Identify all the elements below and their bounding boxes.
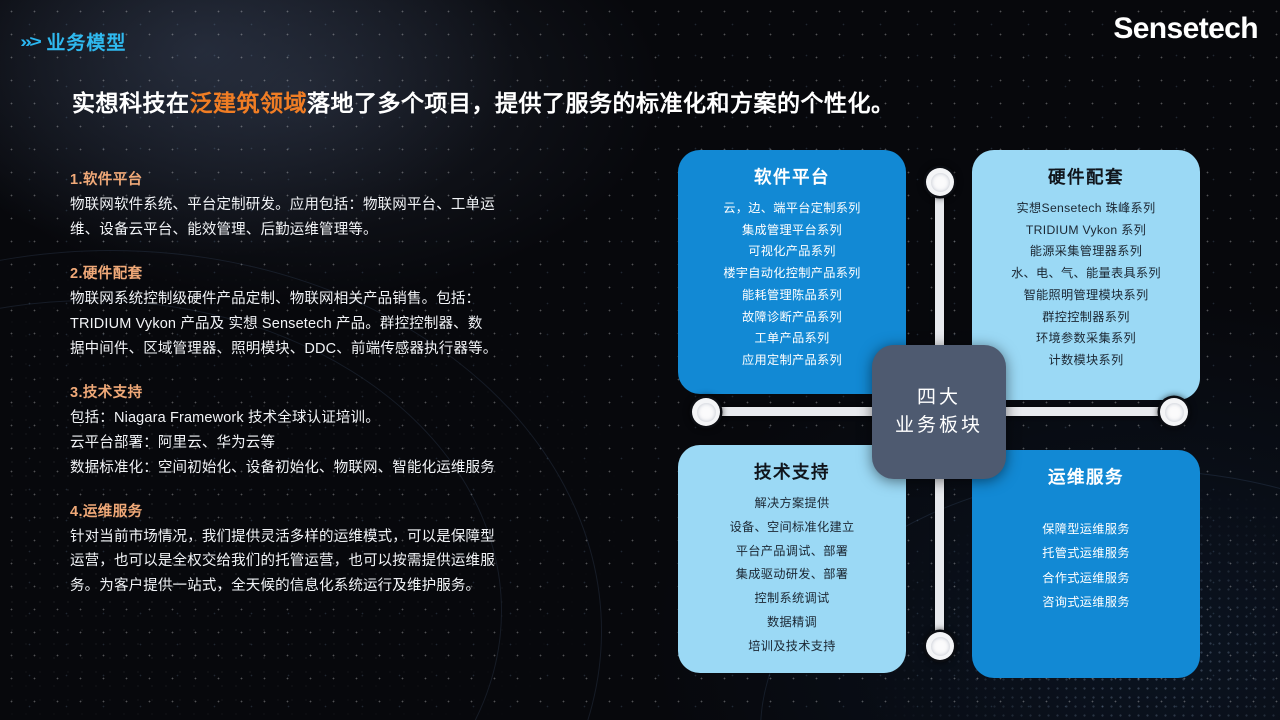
headline-highlight: 泛建筑领域 xyxy=(190,90,308,116)
block-body: 物联网软件系统、平台定制研发。应用包括：物联网平台、工单运 维、设备云平台、能效… xyxy=(70,193,570,243)
left-text-column: 1.软件平台 物联网软件系统、平台定制研发。应用包括：物联网平台、工单运 维、设… xyxy=(70,168,570,599)
block-title: 4.运维服务 xyxy=(70,500,570,521)
card-item: 托管式运维服务 xyxy=(972,541,1200,565)
text-block-support: 3.技术支持 包括：Niagara Framework 技术全球认证培训。 云平… xyxy=(70,381,570,481)
node-dot-top xyxy=(926,168,954,196)
card-software-platform[interactable]: 软件平台 云，边、端平台定制系列 集成管理平台系列 可视化产品系列 楼宇自动化控… xyxy=(678,150,906,394)
body-line: TRIDIUM Vykon 产品及 实想 Sensetech 产品。群控控制器、… xyxy=(70,312,570,337)
card-item: 集成驱动研发、部署 xyxy=(678,563,906,587)
card-item: 工单产品系列 xyxy=(678,328,906,350)
body-line: 数据标准化：空间初始化、设备初始化、物联网、智能化运维服务 xyxy=(70,456,570,481)
text-block-software: 1.软件平台 物联网软件系统、平台定制研发。应用包括：物联网平台、工单运 维、设… xyxy=(70,168,570,243)
card-title: 运维服务 xyxy=(972,464,1200,489)
card-item: 培训及技术支持 xyxy=(678,635,906,659)
card-item: 控制系统调试 xyxy=(678,587,906,611)
card-item: 能耗管理陈品系列 xyxy=(678,285,906,307)
card-item: 平台产品调试、部署 xyxy=(678,540,906,564)
card-item: 环境参数采集系列 xyxy=(972,328,1200,350)
brand-logo: Sensetech xyxy=(1113,12,1258,46)
headline-after: 落地了多个项目，提供了服务的标准化和方案的个性化。 xyxy=(307,90,895,116)
node-dot-right xyxy=(1160,398,1188,426)
card-item: 故障诊断产品系列 xyxy=(678,307,906,329)
card-item: 计数模块系列 xyxy=(972,350,1200,372)
body-line: 维、设备云平台、能效管理、后勤运维管理等。 xyxy=(70,218,570,243)
headline-before: 实想科技在 xyxy=(72,90,190,116)
card-item: 咨询式运维服务 xyxy=(972,590,1200,614)
hub-line-2: 业务板块 xyxy=(895,412,983,441)
section-tag: »> 业务模型 xyxy=(22,28,126,55)
card-item: 楼宇自动化控制产品系列 xyxy=(678,263,906,285)
card-technical-support[interactable]: 技术支持 解决方案提供 设备、空间标准化建立 平台产品调试、部署 集成驱动研发、… xyxy=(678,445,906,673)
card-item: 能源采集管理器系列 xyxy=(972,241,1200,263)
body-line: 物联网系统控制级硬件产品定制、物联网相关产品销售。包括： xyxy=(70,287,570,312)
body-line: 针对当前市场情况，我们提供灵活多样的运维模式，可以是保障型 xyxy=(70,525,570,550)
hub-line-1: 四大 xyxy=(917,384,961,413)
section-label: 业务模型 xyxy=(46,28,126,55)
card-item: 数据精调 xyxy=(678,611,906,635)
body-line: 物联网软件系统、平台定制研发。应用包括：物联网平台、工单运 xyxy=(70,193,570,218)
body-line: 运营，也可以是全权交给我们的托管运营，也可以按需提供运维服 xyxy=(70,549,570,574)
node-dot-left xyxy=(692,398,720,426)
card-item: 设备、空间标准化建立 xyxy=(678,516,906,540)
block-body: 针对当前市场情况，我们提供灵活多样的运维模式，可以是保障型 运营，也可以是全权交… xyxy=(70,525,570,600)
text-block-ops: 4.运维服务 针对当前市场情况，我们提供灵活多样的运维模式，可以是保障型 运营，… xyxy=(70,500,570,600)
diagram-hub[interactable]: 四大 业务板块 xyxy=(872,345,1006,479)
card-operations-service[interactable]: 运维服务 保障型运维服务 托管式运维服务 合作式运维服务 咨询式运维服务 xyxy=(972,450,1200,678)
block-body: 包括：Niagara Framework 技术全球认证培训。 云平台部署：阿里云… xyxy=(70,406,570,481)
card-item: 云，边、端平台定制系列 xyxy=(678,198,906,220)
chevrons-right-icon: »> xyxy=(20,32,39,52)
body-line: 包括：Niagara Framework 技术全球认证培训。 xyxy=(70,406,570,431)
card-item: 保障型运维服务 xyxy=(972,517,1200,541)
block-title: 1.软件平台 xyxy=(70,168,570,189)
card-item: 实想Sensetech 珠峰系列 xyxy=(972,198,1200,220)
page-title: 实想科技在泛建筑领域落地了多个项目，提供了服务的标准化和方案的个性化。 xyxy=(72,84,895,118)
card-title: 硬件配套 xyxy=(972,164,1200,189)
body-line: 云平台部署：阿里云、华为云等 xyxy=(70,431,570,456)
body-line: 务。为客户提供一站式，全天候的信息化系统运行及维护服务。 xyxy=(70,574,570,599)
card-item: 智能照明管理模块系列 xyxy=(972,285,1200,307)
slide-canvas: »> 业务模型 Sensetech 实想科技在泛建筑领域落地了多个项目，提供了服… xyxy=(0,0,1280,720)
card-item: 集成管理平台系列 xyxy=(678,220,906,242)
body-line: 据中间件、区域管理器、照明模块、DDC、前端传感器执行器等。 xyxy=(70,337,570,362)
card-item: 解决方案提供 xyxy=(678,492,906,516)
card-item: 水、电、气、能量表具系列 xyxy=(972,263,1200,285)
block-title: 3.技术支持 xyxy=(70,381,570,402)
block-title: 2.硬件配套 xyxy=(70,262,570,283)
text-block-hardware: 2.硬件配套 物联网系统控制级硬件产品定制、物联网相关产品销售。包括： TRID… xyxy=(70,262,570,362)
card-item: TRIDIUM Vykon 系列 xyxy=(972,220,1200,242)
four-pillars-diagram: 软件平台 云，边、端平台定制系列 集成管理平台系列 可视化产品系列 楼宇自动化控… xyxy=(660,140,1220,685)
slide-header: »> 业务模型 Sensetech xyxy=(0,0,1280,62)
card-hardware-suite[interactable]: 硬件配套 实想Sensetech 珠峰系列 TRIDIUM Vykon 系列 能… xyxy=(972,150,1200,400)
card-title: 软件平台 xyxy=(678,164,906,189)
card-item: 群控控制器系列 xyxy=(972,307,1200,329)
block-body: 物联网系统控制级硬件产品定制、物联网相关产品销售。包括： TRIDIUM Vyk… xyxy=(70,287,570,362)
card-item: 可视化产品系列 xyxy=(678,241,906,263)
card-item: 合作式运维服务 xyxy=(972,566,1200,590)
node-dot-bottom xyxy=(926,632,954,660)
